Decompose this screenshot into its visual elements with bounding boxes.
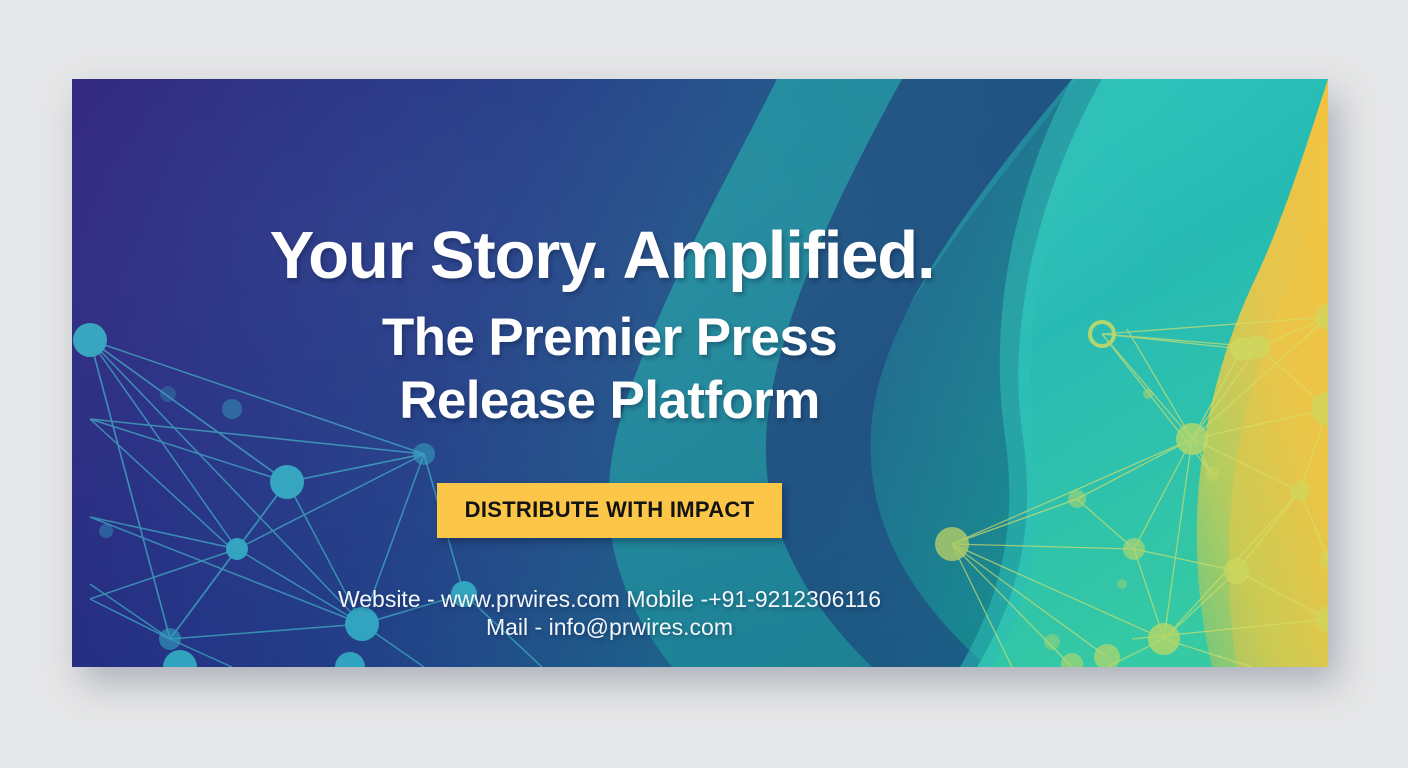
subheading: The Premier Press Release Platform (72, 307, 1147, 432)
cta-container: DISTRIBUTE WITH IMPACT (72, 483, 1147, 538)
distribute-with-impact-button[interactable]: DISTRIBUTE WITH IMPACT (437, 483, 783, 538)
press-release-promo-banner: Your Story. Amplified. The Premier Press… (72, 79, 1328, 667)
subheading-line-1: The Premier Press (382, 308, 837, 367)
contact-info: Website - www.prwires.com Mobile -+91-92… (72, 585, 1147, 641)
contact-email: Mail - info@prwires.com (72, 613, 1147, 641)
page-title: Your Story. Amplified. (72, 222, 1132, 290)
banner-content: Your Story. Amplified. The Premier Press… (72, 79, 1328, 667)
page-canvas: Your Story. Amplified. The Premier Press… (0, 0, 1408, 768)
subheading-line-2: Release Platform (72, 370, 1147, 433)
contact-website-phone: Website - www.prwires.com Mobile -+91-92… (338, 586, 881, 612)
